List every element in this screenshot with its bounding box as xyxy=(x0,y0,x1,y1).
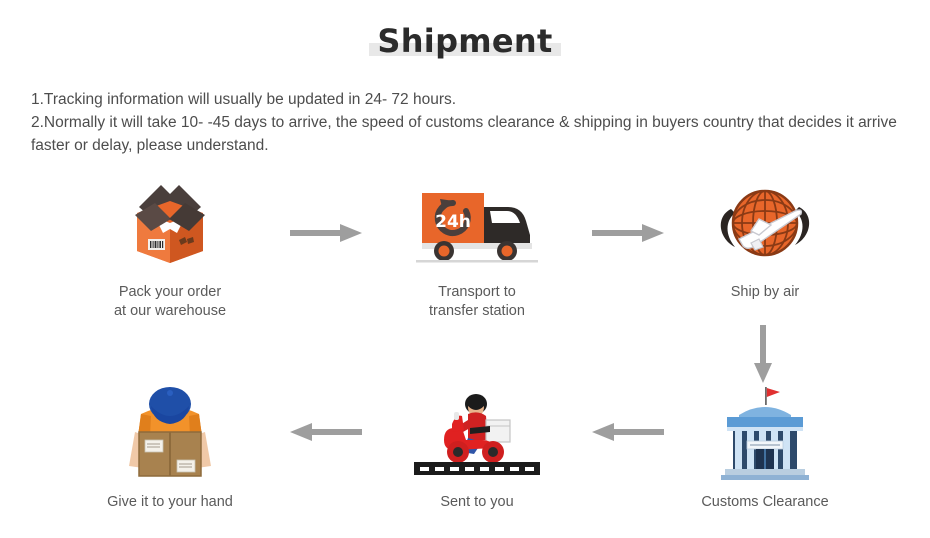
arrow-scooter-to-hand xyxy=(290,421,362,443)
policy-line-1: 1.Tracking information will usually be u… xyxy=(31,88,899,111)
step-caption: Give it to your hand xyxy=(55,493,285,512)
caption-line-1: Ship by air xyxy=(731,284,800,300)
caption-line-1: Give it to your hand xyxy=(107,494,233,510)
customs-building-icon xyxy=(650,380,880,485)
caption-line-1: Customs Clearance xyxy=(701,494,828,510)
step-give-it-to-your-hand: Give it to your hand xyxy=(55,380,285,512)
step-customs-clearance: Customs Clearance xyxy=(650,380,880,512)
caption-line-2: at our warehouse xyxy=(114,303,226,319)
open-box-icon xyxy=(55,170,285,275)
globe-airplane-icon xyxy=(650,170,880,275)
caption-line-1: Transport to xyxy=(438,284,516,300)
arrow-customs-to-scooter xyxy=(592,421,664,443)
step-pack-your-order: Pack your order at our warehouse xyxy=(55,170,285,321)
arrow-transport-to-air xyxy=(592,222,664,244)
step-ship-by-air: Ship by air xyxy=(650,170,880,302)
step-transport-to-transfer-station: 24h Transport to t xyxy=(362,170,592,321)
step-caption: Ship by air xyxy=(650,283,880,302)
title-highlight-band-wrapper: Shipment xyxy=(369,22,560,60)
courier-holding-box-icon xyxy=(55,380,285,485)
steps-row-bottom: Give it to your hand xyxy=(0,380,930,530)
steps-row-top: Pack your order at our warehouse 24h xyxy=(0,170,930,325)
scooter-courier-icon xyxy=(362,380,592,485)
shipment-infographic: Shipment 1.Tracking information will usu… xyxy=(0,0,930,538)
step-caption: Transport to transfer station xyxy=(362,283,592,321)
step-sent-to-you: Sent to you xyxy=(362,380,592,512)
shipping-policy-text: 1.Tracking information will usually be u… xyxy=(31,88,899,157)
step-caption: Sent to you xyxy=(362,493,592,512)
step-caption: Pack your order at our warehouse xyxy=(55,283,285,321)
svg-text:24h: 24h xyxy=(435,212,471,232)
page-title-wrapper: Shipment xyxy=(0,22,930,60)
arrow-air-to-customs xyxy=(752,325,774,383)
caption-line-1: Sent to you xyxy=(440,494,513,510)
arrow-pack-to-transport xyxy=(290,222,362,244)
caption-line-2: transfer station xyxy=(429,303,525,319)
policy-line-2: 2.Normally it will take 10- -45 days to … xyxy=(31,111,899,157)
page-title: Shipment xyxy=(377,22,552,60)
delivery-truck-24h-icon: 24h xyxy=(362,170,592,275)
caption-line-1: Pack your order xyxy=(119,284,221,300)
step-caption: Customs Clearance xyxy=(650,493,880,512)
